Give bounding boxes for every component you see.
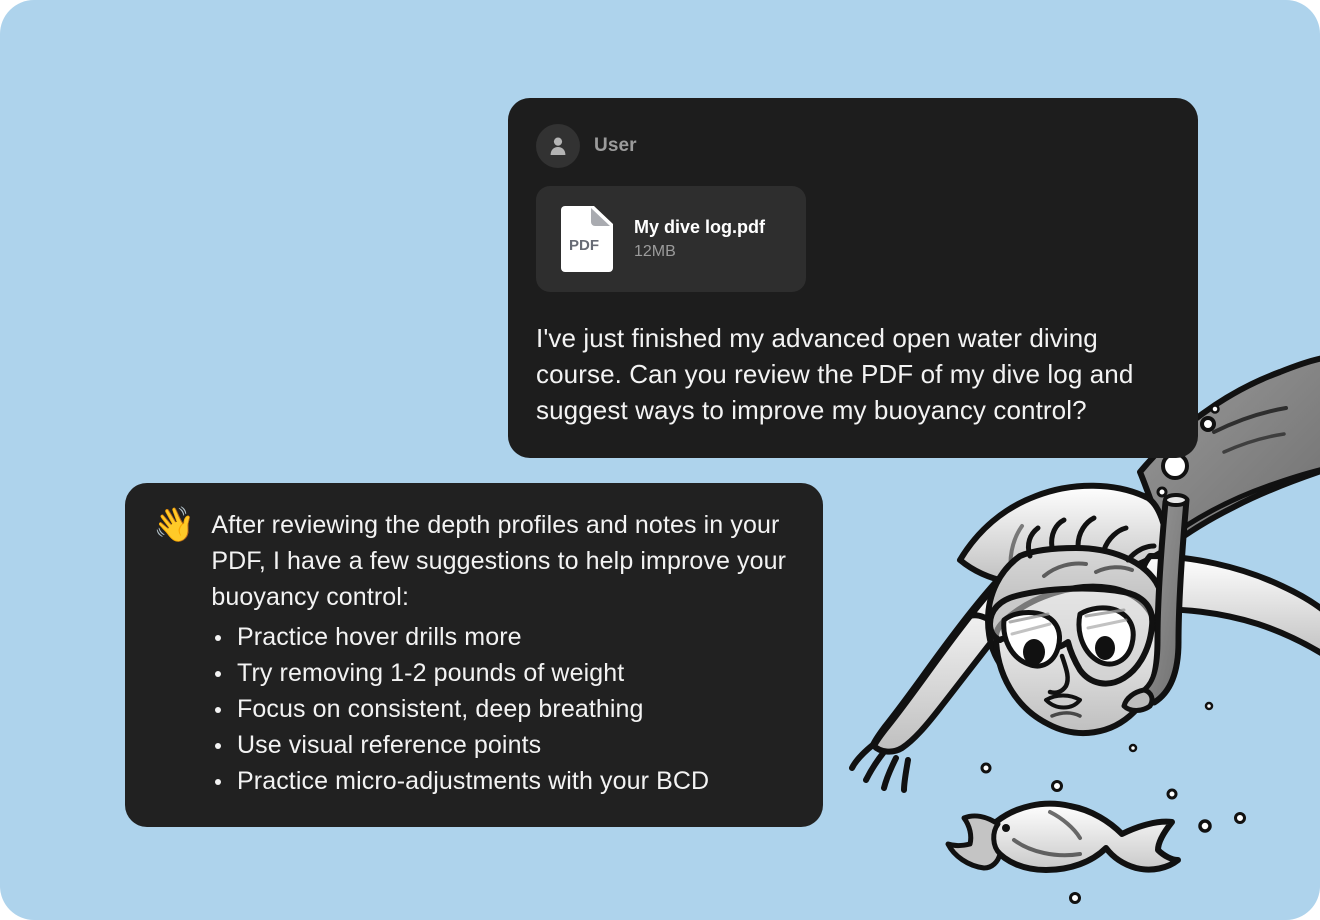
attachment-filesize: 12MB: [634, 243, 765, 261]
assistant-message-bubble: 👋 After reviewing the depth profiles and…: [125, 483, 823, 827]
attachment-meta: My dive log.pdf 12MB: [634, 217, 765, 261]
assistant-intro-text: After reviewing the depth profiles and n…: [211, 507, 795, 615]
svg-text:PDF: PDF: [569, 237, 599, 254]
user-name-label: User: [594, 135, 637, 157]
user-message-text: I've just finished my advanced open wate…: [536, 320, 1170, 428]
suggestion-list: Practice hover drills more Try removing …: [153, 619, 795, 799]
list-item: Try removing 1-2 pounds of weight: [207, 655, 795, 691]
pdf-file-icon: PDF: [558, 204, 616, 274]
list-item: Focus on consistent, deep breathing: [207, 691, 795, 727]
user-message-header: User: [536, 124, 1170, 168]
waving-hand-emoji: 👋: [153, 506, 195, 544]
person-avatar-icon: [536, 124, 580, 168]
assistant-intro-row: 👋 After reviewing the depth profiles and…: [153, 507, 795, 615]
list-item: Practice hover drills more: [207, 619, 795, 655]
attachment-card[interactable]: PDF My dive log.pdf 12MB: [536, 186, 806, 292]
list-item: Practice micro-adjustments with your BCD: [207, 763, 795, 799]
user-message-bubble: User PDF My dive log.pdf 12MB I've just …: [508, 98, 1198, 458]
page-root: User PDF My dive log.pdf 12MB I've just …: [0, 0, 1320, 920]
attachment-filename: My dive log.pdf: [634, 217, 765, 238]
list-item: Use visual reference points: [207, 727, 795, 763]
